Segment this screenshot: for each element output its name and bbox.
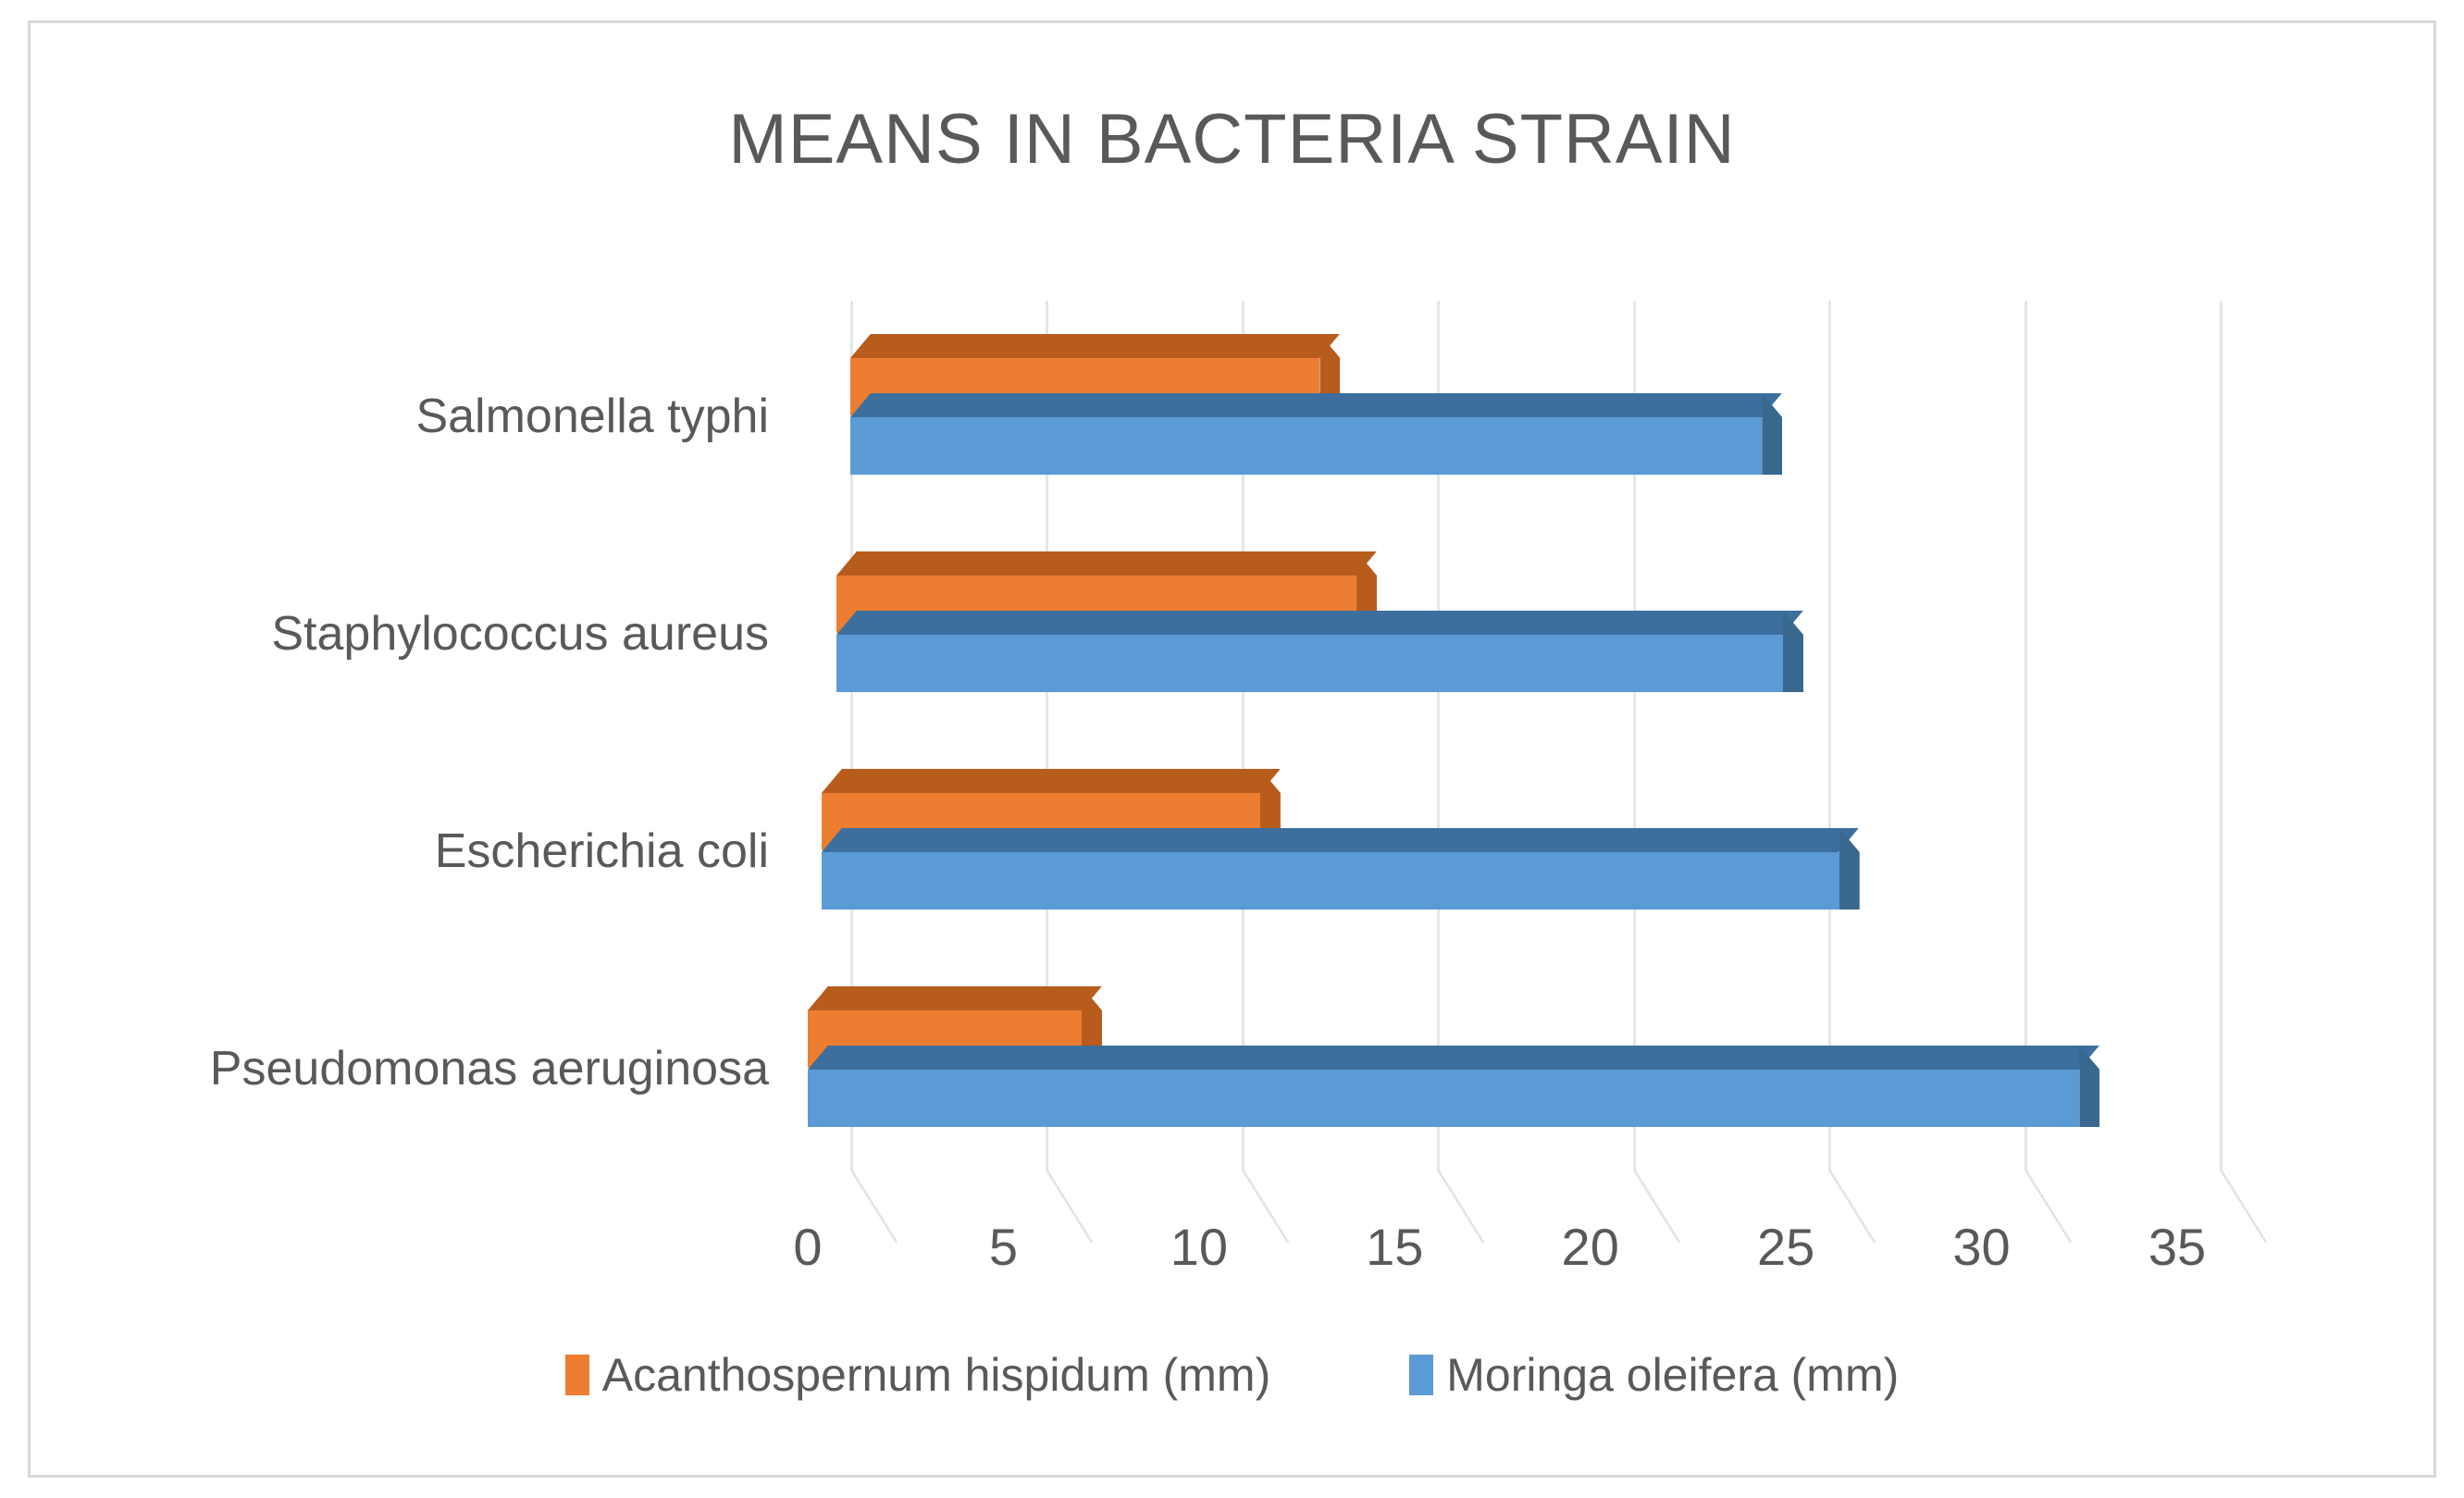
bar-front-face bbox=[850, 417, 1762, 475]
bar-moringa[interactable] bbox=[822, 852, 1839, 910]
bar-top-face bbox=[808, 986, 1102, 1010]
bar-side-face bbox=[2079, 1046, 2099, 1127]
bar-side-face bbox=[1762, 393, 1782, 475]
bar-top-face bbox=[822, 828, 1859, 852]
chart-legend: Acanthospernum hispidum (mm)Moringa olei… bbox=[31, 1348, 2433, 1402]
bar-row bbox=[808, 301, 2177, 518]
chart-page: MEANS IN BACTERIA STRAIN Salmonella typh… bbox=[0, 0, 2464, 1498]
bar-moringa[interactable] bbox=[836, 635, 1783, 692]
bar-row bbox=[808, 736, 2177, 953]
bar-top-face bbox=[850, 334, 1340, 358]
bar-front-face bbox=[836, 635, 1783, 692]
bar-moringa[interactable] bbox=[808, 1070, 2079, 1127]
bar-row bbox=[808, 953, 2177, 1170]
x-tick-label-0: 0 bbox=[793, 1217, 822, 1277]
bar-side-face bbox=[1839, 828, 1860, 910]
bar-top-face bbox=[836, 551, 1377, 576]
plot-area bbox=[808, 301, 2177, 1170]
chart-title: MEANS IN BACTERIA STRAIN bbox=[31, 99, 2433, 180]
x-tick-label-25: 25 bbox=[1757, 1217, 1814, 1277]
category-axis-labels: Salmonella typhiStaphylococcus aureusEsc… bbox=[31, 301, 789, 1170]
x-tick-label-5: 5 bbox=[989, 1217, 1018, 1277]
bar-top-face bbox=[822, 769, 1280, 793]
legend-item[interactable]: Moringa oleifera (mm) bbox=[1409, 1348, 1899, 1402]
bar-row bbox=[808, 518, 2177, 736]
legend-item[interactable]: Acanthospernum hispidum (mm) bbox=[565, 1348, 1271, 1402]
bar-rows bbox=[808, 301, 2177, 1170]
x-tick-label-20: 20 bbox=[1562, 1217, 1619, 1277]
bar-top-face bbox=[836, 611, 1803, 635]
gridline-35 bbox=[2220, 301, 2223, 1170]
bar-side-face bbox=[1783, 611, 1803, 692]
category-label: Pseudomonas aeruginosa bbox=[47, 1041, 769, 1096]
bar-top-face bbox=[808, 1046, 2099, 1070]
x-tick-label-10: 10 bbox=[1170, 1217, 1228, 1277]
chart-frame: MEANS IN BACTERIA STRAIN Salmonella typh… bbox=[28, 20, 2436, 1478]
category-label: Escherichia coli bbox=[47, 823, 769, 879]
legend-swatch-icon bbox=[565, 1355, 589, 1395]
category-label: Staphylococcus aureus bbox=[47, 606, 769, 662]
x-tick-label-35: 35 bbox=[2148, 1217, 2206, 1277]
x-tick-label-30: 30 bbox=[1952, 1217, 2010, 1277]
bar-front-face bbox=[808, 1070, 2079, 1127]
x-tick-label-15: 15 bbox=[1366, 1217, 1423, 1277]
legend-label: Acanthospernum hispidum (mm) bbox=[602, 1348, 1271, 1402]
bar-moringa[interactable] bbox=[850, 417, 1762, 475]
bar-front-face bbox=[822, 852, 1839, 910]
legend-swatch-icon bbox=[1409, 1355, 1433, 1395]
category-label: Salmonella typhi bbox=[47, 389, 769, 444]
x-axis-tick-labels: 05101520253035 bbox=[31, 1217, 2433, 1281]
bar-top-face bbox=[850, 393, 1782, 417]
legend-label: Moringa oleifera (mm) bbox=[1446, 1348, 1899, 1402]
